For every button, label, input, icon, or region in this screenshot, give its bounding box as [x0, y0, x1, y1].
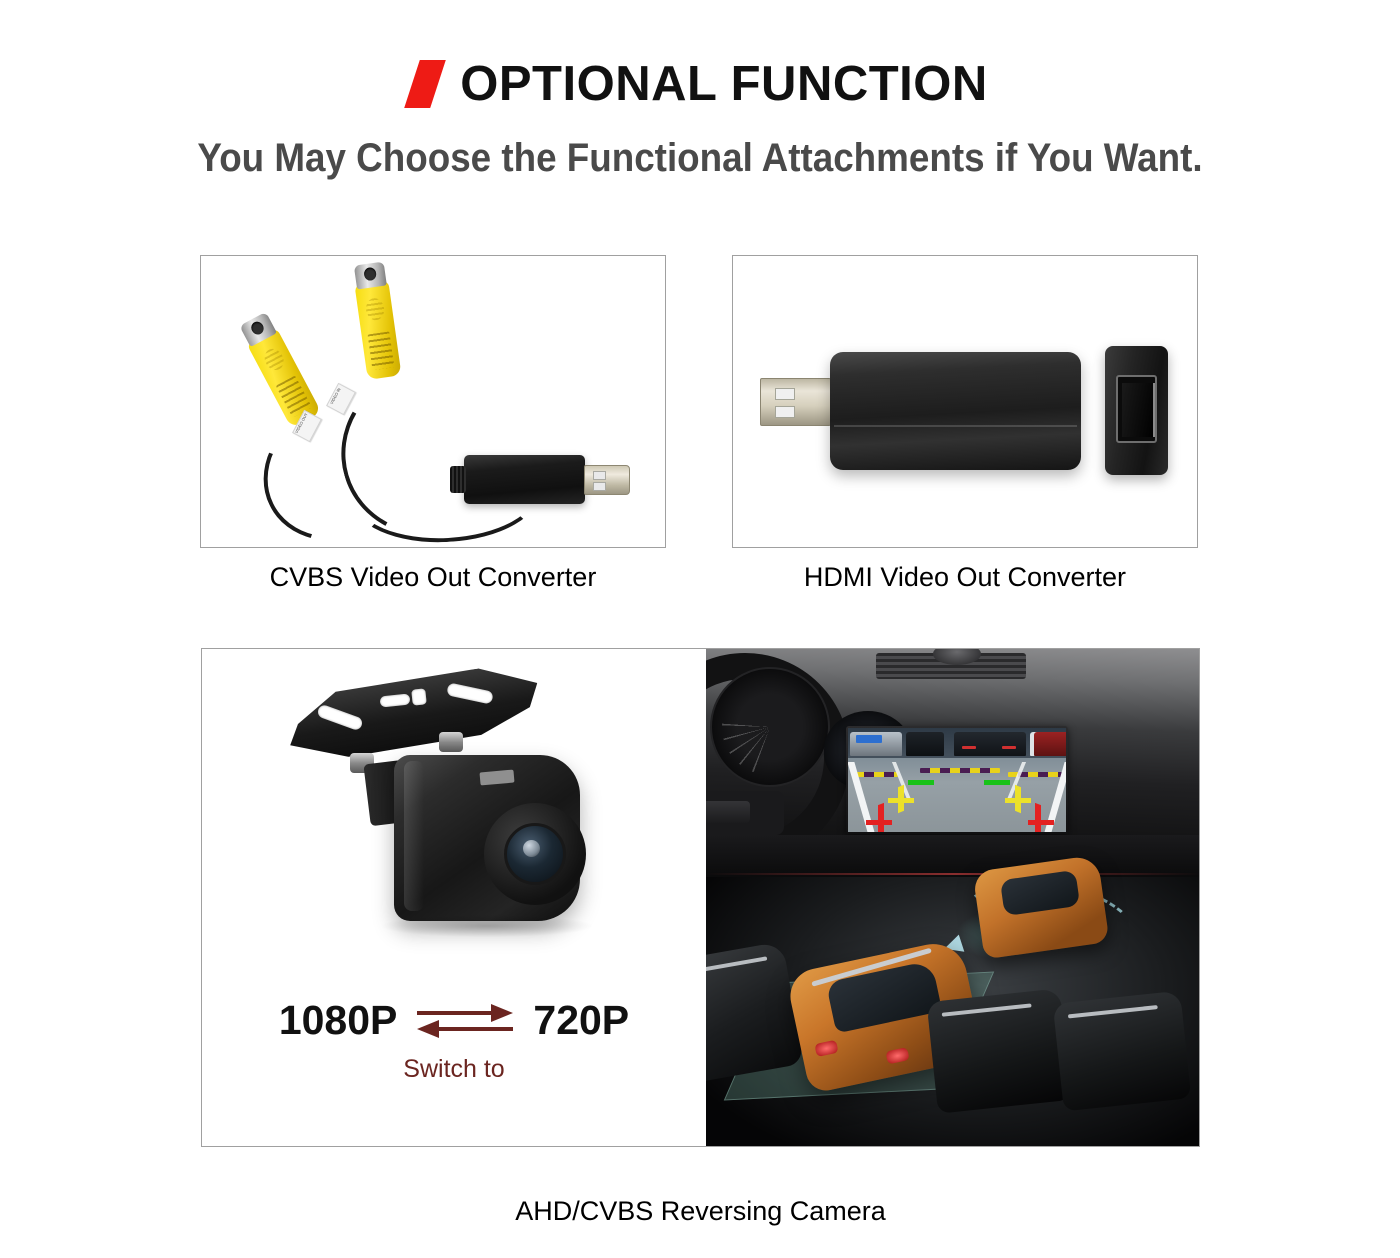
screen-parked-car	[850, 732, 902, 756]
hdmi-dongle-body	[830, 352, 1081, 470]
camera-product-side: 1080P 720P Switch to	[202, 649, 706, 1146]
housing-seam	[834, 425, 1077, 427]
arrow-line-right	[417, 1011, 493, 1015]
roof-rail	[706, 956, 767, 976]
camera-brand-logo	[479, 770, 514, 786]
arrow-head-right	[491, 1004, 513, 1022]
parking-lot-scene	[706, 877, 1200, 1146]
caption-camera: AHD/CVBS Reversing Camera	[201, 1196, 1200, 1227]
guide-line-yellow	[1005, 798, 1031, 803]
reversing-camera-view	[848, 728, 1066, 832]
usb-a-plug-icon	[584, 465, 630, 495]
title-row: OPTIONAL FUNCTION	[0, 56, 1400, 112]
parked-car-black	[927, 988, 1072, 1113]
resolution-switch-row: 1080P 720P	[202, 997, 706, 1044]
caption-hdmi: HDMI Video Out Converter	[732, 562, 1198, 593]
car-taillight	[814, 1040, 838, 1057]
parked-car-black	[706, 941, 804, 1084]
camera-lens-housing	[484, 803, 586, 905]
hdmi-converter-image	[733, 256, 1197, 547]
bidirectional-arrow-icon	[417, 1002, 513, 1040]
product-panel-camera: 1080P 720P Switch to	[201, 648, 1200, 1147]
resolution-switch-graphic: 1080P 720P Switch to	[202, 997, 706, 1084]
parked-car-black	[1053, 991, 1192, 1112]
page-subtitle: You May Choose the Functional Attachment…	[56, 136, 1344, 181]
cvbs-converter-image: VIDEO OUT VIDEO IN	[201, 256, 665, 547]
approaching-car-orange	[972, 855, 1109, 960]
screen-parked-car	[906, 732, 944, 756]
product-panel-cvbs: VIDEO OUT VIDEO IN	[200, 255, 666, 548]
dashboard-accent-trim	[706, 873, 1200, 875]
steering-wheel-controls	[706, 801, 750, 823]
car-scene-side: 951 m	[706, 649, 1200, 1146]
screen-parked-car	[954, 732, 1026, 756]
screen-signage	[856, 735, 882, 743]
car-dashboard: 951 m	[706, 649, 1200, 877]
bracket-screw-right	[439, 732, 463, 752]
guide-line-red	[1028, 820, 1054, 825]
page-title: OPTIONAL FUNCTION	[460, 56, 988, 112]
guide-line-yellow	[888, 798, 914, 803]
rca-grip-ribs	[368, 331, 395, 370]
cvbs-dongle-body	[464, 455, 585, 504]
guide-line-red	[866, 820, 892, 825]
guide-line-red	[878, 803, 884, 832]
screen-taillight	[1002, 746, 1016, 749]
guide-line-green	[908, 780, 934, 785]
car-glass	[826, 960, 942, 1033]
car-glass	[1000, 870, 1080, 916]
guide-line-red	[1035, 803, 1041, 832]
camera-fisheye-lens-icon	[504, 823, 566, 885]
rca-grip-oval	[261, 346, 287, 374]
roof-rail	[942, 1003, 1032, 1016]
screen-parked-car-red	[1034, 732, 1066, 756]
screen-wheel-stop	[920, 768, 1000, 773]
bracket-slot-center-2	[411, 688, 427, 705]
resolution-from-label: 1080P	[279, 997, 398, 1044]
gauge-tick-marks	[722, 679, 818, 775]
cable-strain-relief	[450, 466, 466, 493]
arrow-head-left	[417, 1020, 439, 1038]
steering-wheel-spoke	[706, 791, 784, 835]
guide-line-green	[984, 780, 1010, 785]
caption-cvbs: CVBS Video Out Converter	[200, 562, 666, 593]
resolution-to-label: 720P	[533, 997, 629, 1044]
tachometer-gauge	[710, 667, 830, 787]
rca-grip-oval	[365, 297, 386, 321]
camera-body	[394, 755, 580, 921]
switch-to-note: Switch to	[202, 1055, 706, 1084]
rca-connector-yellow-b	[354, 280, 401, 380]
usb-a-plug-icon	[760, 378, 832, 426]
screen-taillight	[962, 746, 976, 749]
infotainment-screen-bezel	[846, 726, 1068, 834]
page-header: OPTIONAL FUNCTION You May Choose the Fun…	[0, 0, 1400, 181]
screen-wheel-stop	[854, 772, 898, 777]
roof-rail	[1068, 1005, 1158, 1018]
reversing-camera-image	[262, 667, 652, 987]
hdmi-female-port-icon	[1116, 375, 1157, 443]
product-panel-hdmi	[732, 255, 1198, 548]
hdmi-port-end-view	[1105, 346, 1168, 475]
screen-background-cars	[848, 728, 1066, 758]
arrow-line-left	[437, 1027, 513, 1031]
product-shadow	[382, 915, 592, 937]
car-taillight	[885, 1047, 909, 1064]
red-slash-accent-icon	[404, 60, 446, 108]
